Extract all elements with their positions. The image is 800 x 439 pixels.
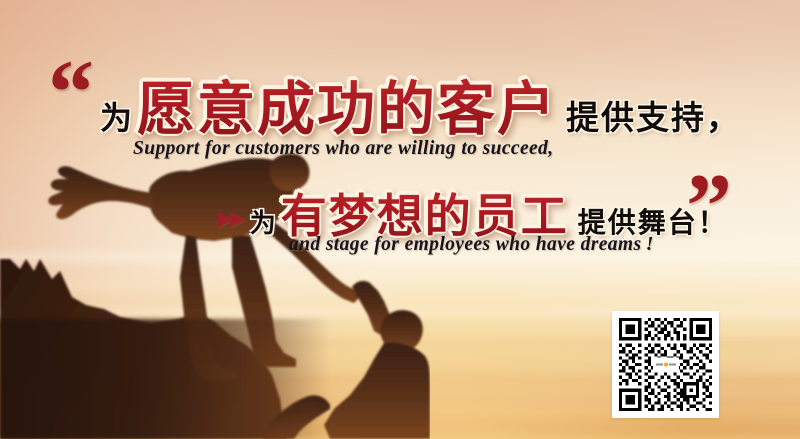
promotional-banner: “ ” 为 愿意成功的客户 提供支持， Support for customer… (0, 0, 800, 439)
qr-code[interactable] (612, 311, 719, 418)
line1-suffix-text: 提供支持， (566, 91, 741, 139)
slogan-line-1: 为 愿意成功的客户 提供支持， (100, 62, 741, 146)
qr-center-logo-icon (653, 357, 679, 372)
line2-prefix-text: 为 (250, 203, 278, 240)
line1-prefix-text: 为 (100, 93, 134, 139)
double-arrow-icon: ▶▶ (218, 206, 243, 231)
opening-quote-mark: “ (48, 46, 94, 138)
line1-english-subtitle: Support for customers who are willing to… (133, 138, 553, 160)
line1-highlight-text: 愿意成功的客户 (137, 62, 557, 146)
line2-english-subtitle: and stage for employees who have dreams … (289, 234, 654, 256)
